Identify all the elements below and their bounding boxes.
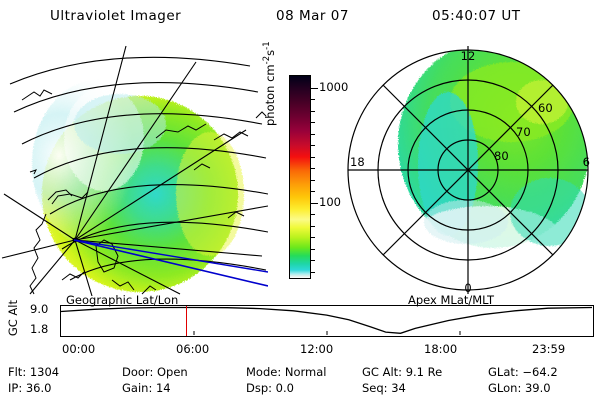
colorbar-tick-4: [311, 134, 315, 135]
altitude-curve: [61, 306, 592, 335]
status-label: Flt:: [8, 365, 26, 379]
status-label: GC Alt:: [362, 365, 402, 379]
colorbar-label-text: photon cm: [263, 64, 277, 126]
status-gain: Gain: 14: [122, 381, 171, 395]
apex-polar-panel[interactable]: 12 18 6 0 60 70 80: [336, 44, 600, 296]
colorbar-tick-14: [311, 249, 315, 250]
status-value: Open: [153, 365, 187, 379]
status-value: 39.0: [521, 381, 550, 395]
colorbar-gradient: [290, 76, 310, 278]
colorbar-tick-7: [311, 168, 315, 169]
status-door: Door: Open: [122, 365, 188, 379]
time-tick-1800: 18:00: [424, 342, 457, 356]
strip-y-axis-name: GC Alt: [6, 300, 20, 336]
instrument-title: Ultraviolet Imager: [50, 8, 181, 24]
colorbar-tick-2: [311, 111, 315, 112]
status-glat: GLat: −64.2: [488, 365, 558, 379]
status-value: 1304: [26, 365, 59, 379]
status-gcalt: GC Alt: 9.1 Re: [362, 365, 442, 379]
observation-date: 08 Mar 07: [276, 8, 349, 24]
status-value: 36.0: [22, 381, 51, 395]
status-value: 0.0: [272, 381, 294, 395]
status-value: Normal: [281, 365, 326, 379]
colorbar-tick-13: [311, 237, 315, 238]
time-tick-0600: 06:00: [176, 342, 209, 356]
colorbar-label-exp2: -1: [262, 41, 272, 49]
mlt-label-6: 6: [583, 155, 590, 169]
time-tick-0000: 00:00: [62, 342, 95, 356]
colorbar-label-exp1: -2: [262, 56, 272, 64]
status-seq: Seq: 34: [362, 381, 406, 395]
colorbar[interactable]: [289, 75, 311, 279]
mlat-label-60: 60: [538, 101, 553, 115]
mlt-label-18: 18: [350, 155, 365, 169]
strip-axis-ticks: [194, 331, 460, 335]
status-label: Dsp:: [246, 381, 272, 395]
status-label: Mode:: [246, 365, 281, 379]
status-label: GLon:: [488, 381, 521, 395]
colorbar-tick-11: [311, 214, 315, 215]
status-mode: Mode: Normal: [246, 365, 326, 379]
colorbar-tick-10: [311, 203, 318, 204]
colorbar-tick-12: [311, 226, 315, 227]
status-label: IP:: [8, 381, 22, 395]
colorbar-tick-0: [311, 88, 318, 89]
time-tick-1200: 12:00: [300, 342, 333, 356]
status-label: GLat:: [488, 365, 519, 379]
colorbar-tick-15: [311, 260, 315, 261]
mlat-label-80: 80: [494, 149, 509, 163]
status-value: 9.1 Re: [402, 365, 442, 379]
mlat-label-70: 70: [516, 125, 531, 139]
strip-y-top-label: 9.0: [30, 302, 48, 316]
status-value: 14: [152, 381, 170, 395]
status-label: Gain:: [122, 381, 152, 395]
colorbar-tick-5: [311, 145, 315, 146]
strip-y-bottom-label: 1.8: [30, 322, 48, 336]
status-label: Door:: [122, 365, 153, 379]
colorbar-tick-1: [311, 99, 315, 100]
colorbar-tick-3: [311, 122, 315, 123]
mlt-label-12: 12: [461, 49, 476, 63]
status-glon: GLon: 39.0: [488, 381, 551, 395]
ultraviolet-imager-window: Ultraviolet Imager 08 Mar 07 05:40:07 UT: [0, 0, 600, 400]
mlt-spokes: [348, 46, 588, 294]
current-time-marker: [186, 306, 187, 336]
colorbar-tick-8: [311, 180, 315, 181]
status-dsp: Dsp: 0.0: [246, 381, 294, 395]
time-tick-2359: 23:59: [532, 342, 565, 356]
colorbar-axis-label: photon cm-2s-1: [262, 110, 277, 126]
status-value: −64.2: [519, 365, 558, 379]
colorbar-tick-6: [311, 157, 315, 158]
geographic-projection-panel[interactable]: [0, 44, 268, 296]
colorbar-tick-9: [311, 191, 315, 192]
status-ip: IP: 36.0: [8, 381, 51, 395]
status-label: Seq:: [362, 381, 388, 395]
colorbar-tick-16: [311, 272, 315, 273]
colorbar-label-mid: s: [263, 50, 277, 56]
observation-time: 05:40:07 UT: [432, 8, 521, 24]
status-flt: Flt: 1304: [8, 365, 59, 379]
status-value: 34: [388, 381, 406, 395]
